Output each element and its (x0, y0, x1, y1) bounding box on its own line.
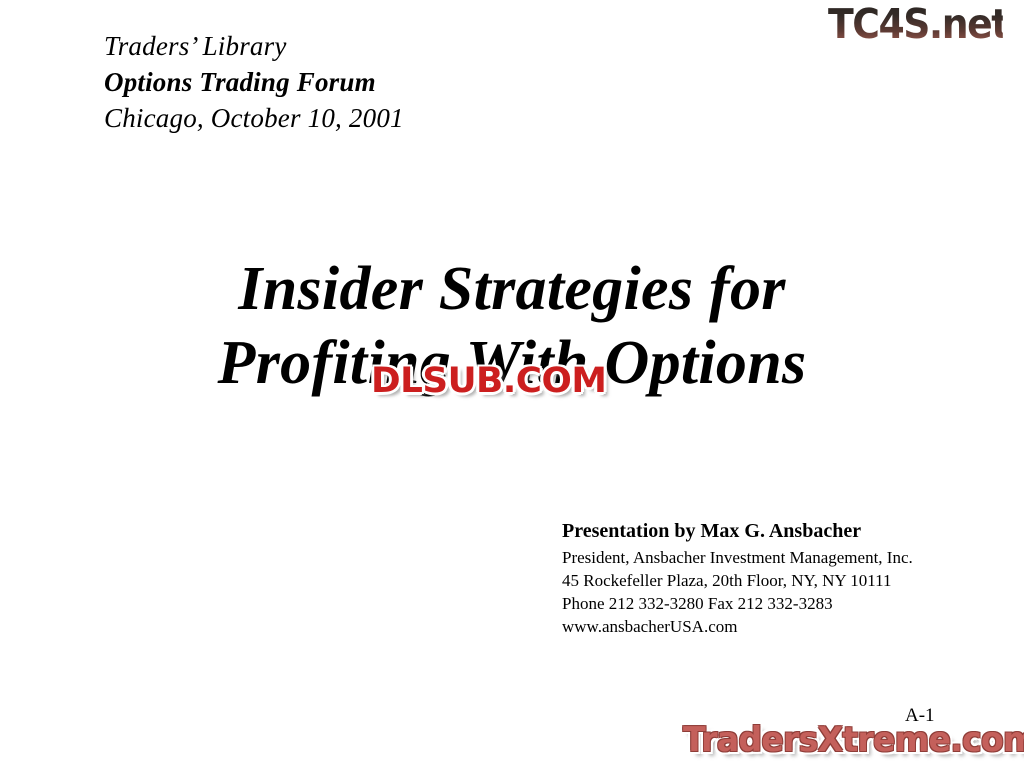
presenter-name: Presentation by Max G. Ansbacher (562, 521, 913, 541)
presenter-phone-fax: Phone 212 332-3280 Fax 212 332-3283 (562, 595, 913, 612)
header-location-date: Chicago, October 10, 2001 (104, 105, 404, 132)
header-block: Traders’ Library Options Trading Forum C… (104, 33, 404, 141)
dlsub-watermark: DLSUB.COM (371, 360, 649, 404)
header-organization: Traders’ Library (104, 33, 404, 60)
dlsub-watermark-text: DLSUB.COM (371, 360, 655, 402)
tradersxtreme-logo-text: TradersXtreme.com (683, 719, 1006, 761)
presenter-block: Presentation by Max G. Ansbacher Preside… (562, 521, 913, 641)
presenter-website: www.ansbacherUSA.com (562, 618, 913, 635)
presenter-address: 45 Rockefeller Plaza, 20th Floor, NY, NY… (562, 572, 913, 589)
presenter-title-company: President, Ansbacher Investment Manageme… (562, 549, 913, 566)
tc4s-logo: TC4S.net (828, 2, 1018, 48)
title-line-1: Insider Strategies for (0, 252, 1024, 326)
tradersxtreme-logo: TradersXtreme.com (683, 719, 1013, 764)
tc4s-logo-text: TC4S.net (828, 2, 1003, 46)
slide-canvas: Traders’ Library Options Trading Forum C… (0, 0, 1024, 768)
header-event-name: Options Trading Forum (104, 69, 404, 96)
